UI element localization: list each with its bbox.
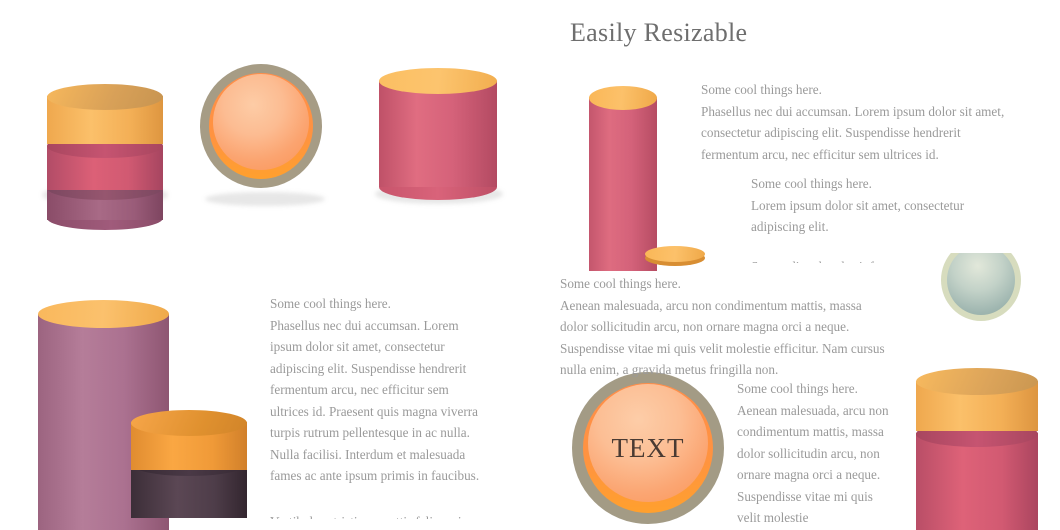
paragraph-left-lower-clipped: Vestibulum tristique mattis felis, quis bbox=[270, 511, 495, 519]
paragraph-heading: Some cool things here. bbox=[270, 293, 482, 315]
pink-cylinder-top-right bbox=[375, 62, 510, 212]
cylinder-layer-crimson bbox=[916, 433, 1038, 530]
cylinder-layer-orange-top-cap bbox=[47, 84, 163, 110]
paragraph-body: Aenean malesuada, arcu non condimentum m… bbox=[737, 400, 889, 529]
orange-pink-stack-bottom-right bbox=[912, 365, 1052, 530]
paragraph-body: Lorem ipsum dolor sit amet, consectetur … bbox=[751, 195, 989, 238]
paragraph-center-wide: Some cool things here. Aenean malesuada,… bbox=[560, 273, 890, 381]
paragraph-right-second: Some cool things here. Lorem ipsum dolor… bbox=[751, 173, 989, 238]
paragraph-heading: Some cool things here. bbox=[701, 79, 1006, 101]
cylinder-layer-orange-top-cap bbox=[916, 368, 1038, 395]
orange-eggplant-stack bbox=[127, 406, 252, 530]
stacked-cylinder-top-left bbox=[40, 58, 170, 208]
paragraph-body: Suspendisse hendrerit fermentum arcu, ne… bbox=[751, 256, 989, 263]
sage-sphere-right bbox=[941, 253, 1023, 328]
paragraph-heading: Some cool things here. bbox=[560, 273, 890, 295]
orange-disc-center bbox=[645, 246, 707, 268]
orange-sphere-top-center bbox=[200, 64, 330, 209]
paragraph-heading: Some cool things here. bbox=[751, 173, 989, 195]
paragraph-body: Phasellus nec dui accumsan. Lorem ipsum … bbox=[270, 315, 482, 487]
cylinder-top-cap bbox=[379, 68, 497, 94]
page-title: Easily Resizable bbox=[570, 18, 747, 48]
drop-shadow bbox=[205, 192, 325, 206]
cylinder-top-cap bbox=[38, 300, 169, 328]
paragraph-heading: Some cool things here. bbox=[737, 378, 889, 400]
paragraph-left-lower: Some cool things here. Phasellus nec dui… bbox=[270, 293, 482, 487]
tall-thin-pink-cylinder bbox=[589, 86, 661, 271]
cylinder-layer-orange-top-cap bbox=[131, 410, 247, 436]
paragraph-body: Vestibulum tristique mattis felis, quis bbox=[270, 511, 495, 519]
paragraph-right-clipped: Suspendisse hendrerit fermentum arcu, ne… bbox=[751, 256, 989, 263]
cylinder-body bbox=[379, 81, 497, 187]
sphere-text-label: TEXT bbox=[572, 372, 724, 524]
paragraph-body: Aenean malesuada, arcu non condimentum m… bbox=[560, 295, 890, 381]
slide-canvas: TEXT Easily Resizable Some cool things h… bbox=[0, 0, 1060, 530]
disc-top-cap bbox=[645, 246, 705, 262]
sphere-inner-highlight bbox=[213, 74, 309, 170]
paragraph-right-top: Some cool things here. Phasellus nec dui… bbox=[701, 79, 1006, 165]
paragraph-body: Phasellus nec dui accumsan. Lorem ipsum … bbox=[701, 101, 1006, 166]
paragraph-bottom-right: Some cool things here. Aenean malesuada,… bbox=[737, 378, 889, 530]
cylinder-top-cap bbox=[589, 86, 657, 110]
text-sphere: TEXT bbox=[572, 372, 732, 530]
